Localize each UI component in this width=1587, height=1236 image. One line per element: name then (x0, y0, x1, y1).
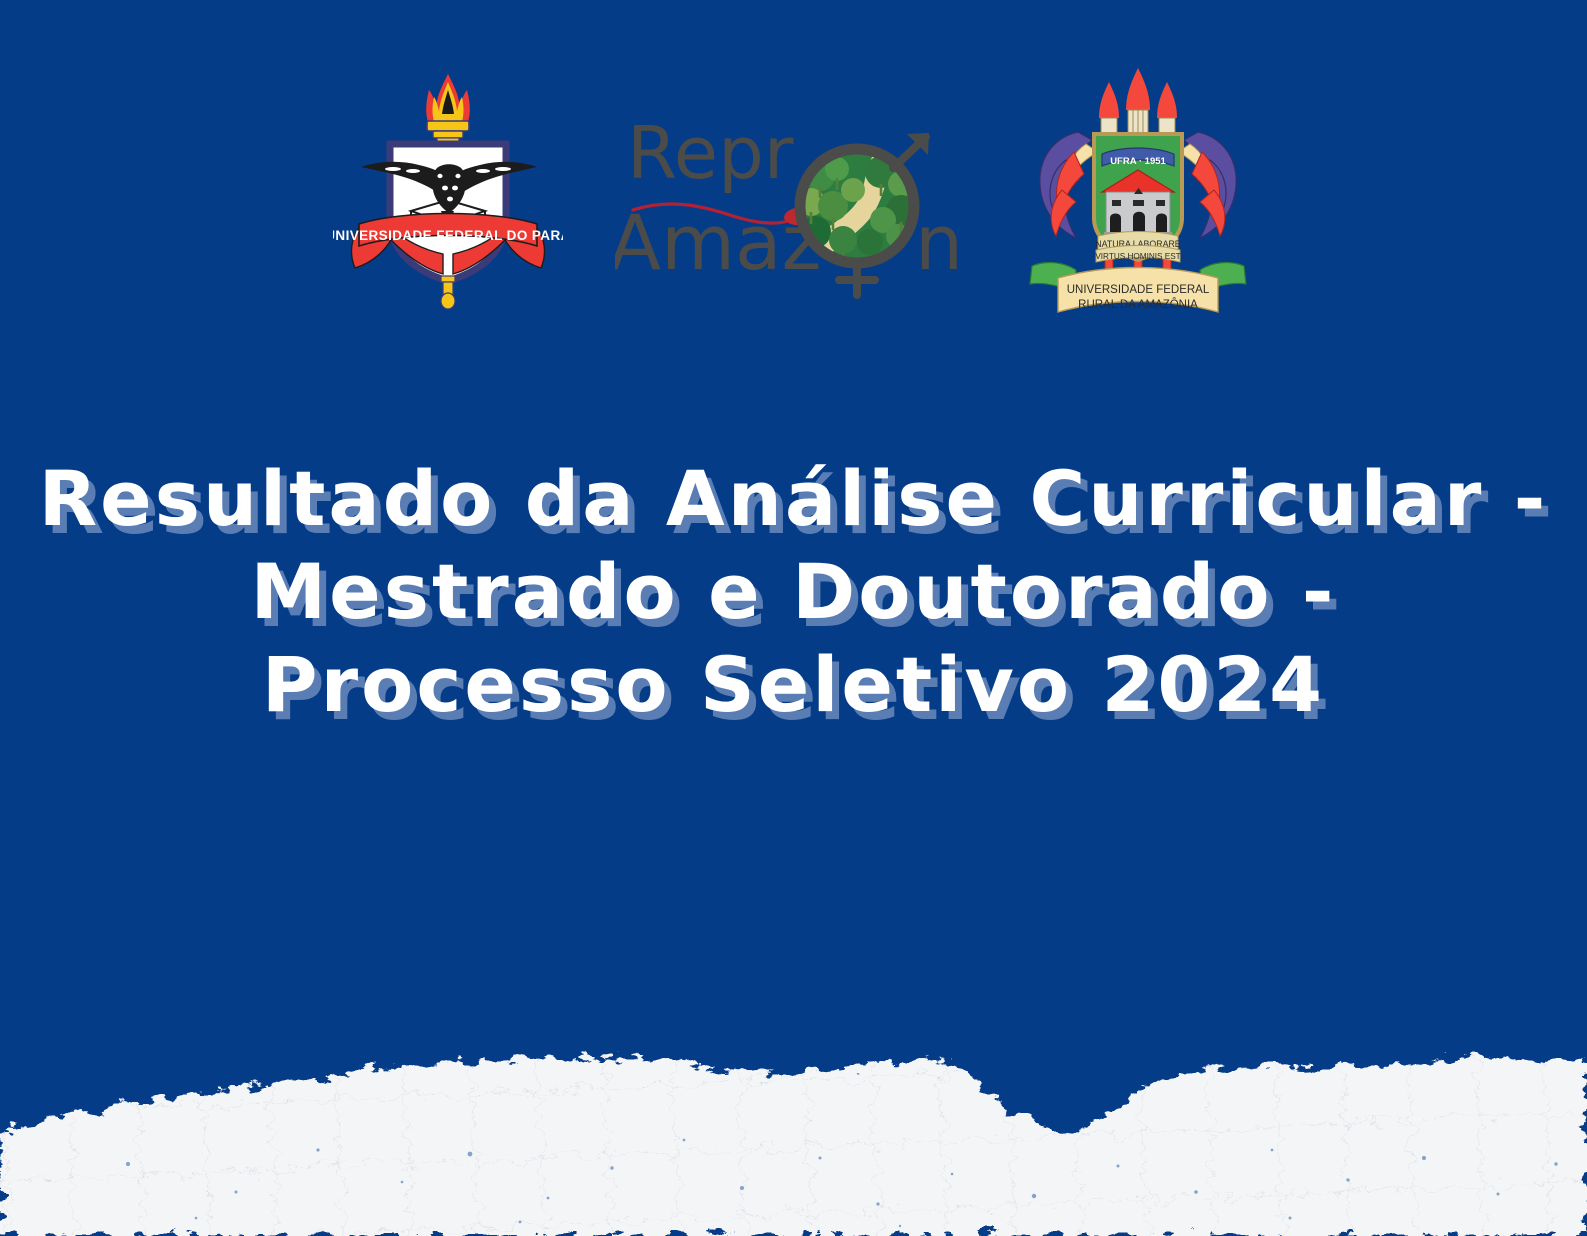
repro-word-part-3: n (915, 198, 963, 287)
ufra-motto: NATURA LABORARE VIRTUS HOMINIS EST (1095, 232, 1181, 263)
ufpa-banner-text: UNIVERSIDADE FEDERAL DO PARÁ (333, 228, 563, 243)
logo-bar: UNIVERSIDADE FEDERAL DO PARÁ Repr (0, 58, 1587, 318)
torn-edge-shape (0, 1046, 1587, 1236)
ufra-banner-line-2: RURAL DA AMAZÔNIA (1078, 298, 1198, 311)
ufpa-logo: UNIVERSIDADE FEDERAL DO PARÁ (333, 68, 563, 313)
torn-paper-footer (0, 1046, 1587, 1236)
poster-canvas: UNIVERSIDADE FEDERAL DO PARÁ Repr (0, 0, 1587, 1236)
ufra-motto-line-2: VIRTUS HOMINIS EST (1095, 252, 1180, 261)
ufra-logo: UFRA · 1951 NAT (1022, 60, 1254, 322)
reproamazon-logo: Repr Amaz (615, 106, 970, 301)
ufra-banner-line-1: UNIVERSIDADE FEDERAL (1067, 284, 1210, 296)
title-line-1: Resultado da Análise Curricular - (0, 452, 1587, 545)
ufra-year-text: UFRA · 1951 (1110, 156, 1166, 167)
poster-title: Resultado da Análise Curricular - Mestra… (0, 452, 1587, 731)
ufpa-torch-flame (426, 74, 470, 122)
title-line-2: Mestrado e Doutorado - (0, 545, 1587, 638)
title-line-3: Processo Seletivo 2024 (0, 638, 1587, 731)
ufra-bottom-banner: UNIVERSIDADE FEDERAL RURAL DA AMAZÔNIA (1058, 268, 1218, 313)
ufpa-finial (441, 276, 455, 309)
ufra-year-banner: UFRA · 1951 (1102, 148, 1174, 167)
repro-word-part-2: Amaz (615, 198, 822, 287)
repro-word-part-1: Repr (627, 111, 794, 195)
